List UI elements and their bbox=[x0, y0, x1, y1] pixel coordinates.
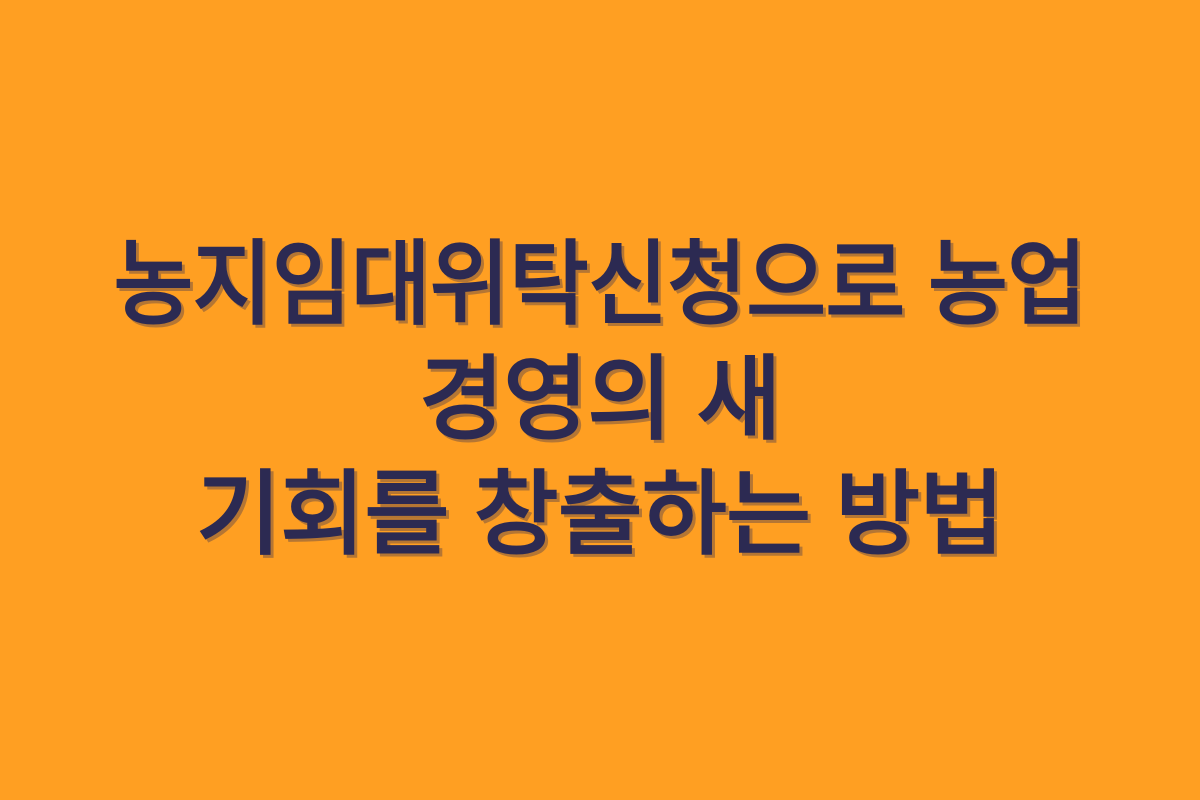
headline-line-2: 경영의 새 bbox=[18, 343, 1182, 458]
headline-line-1: 농지임대위탁신청으로 농업 bbox=[53, 228, 1147, 343]
page-title: 농지임대위탁신청으로 농업 경영의 새 기회를 창출하는 방법 bbox=[0, 228, 1200, 573]
banner-canvas: 농지임대위탁신청으로 농업 경영의 새 기회를 창출하는 방법 bbox=[0, 0, 1200, 800]
headline-line-3: 기회를 창출하는 방법 bbox=[18, 458, 1182, 573]
